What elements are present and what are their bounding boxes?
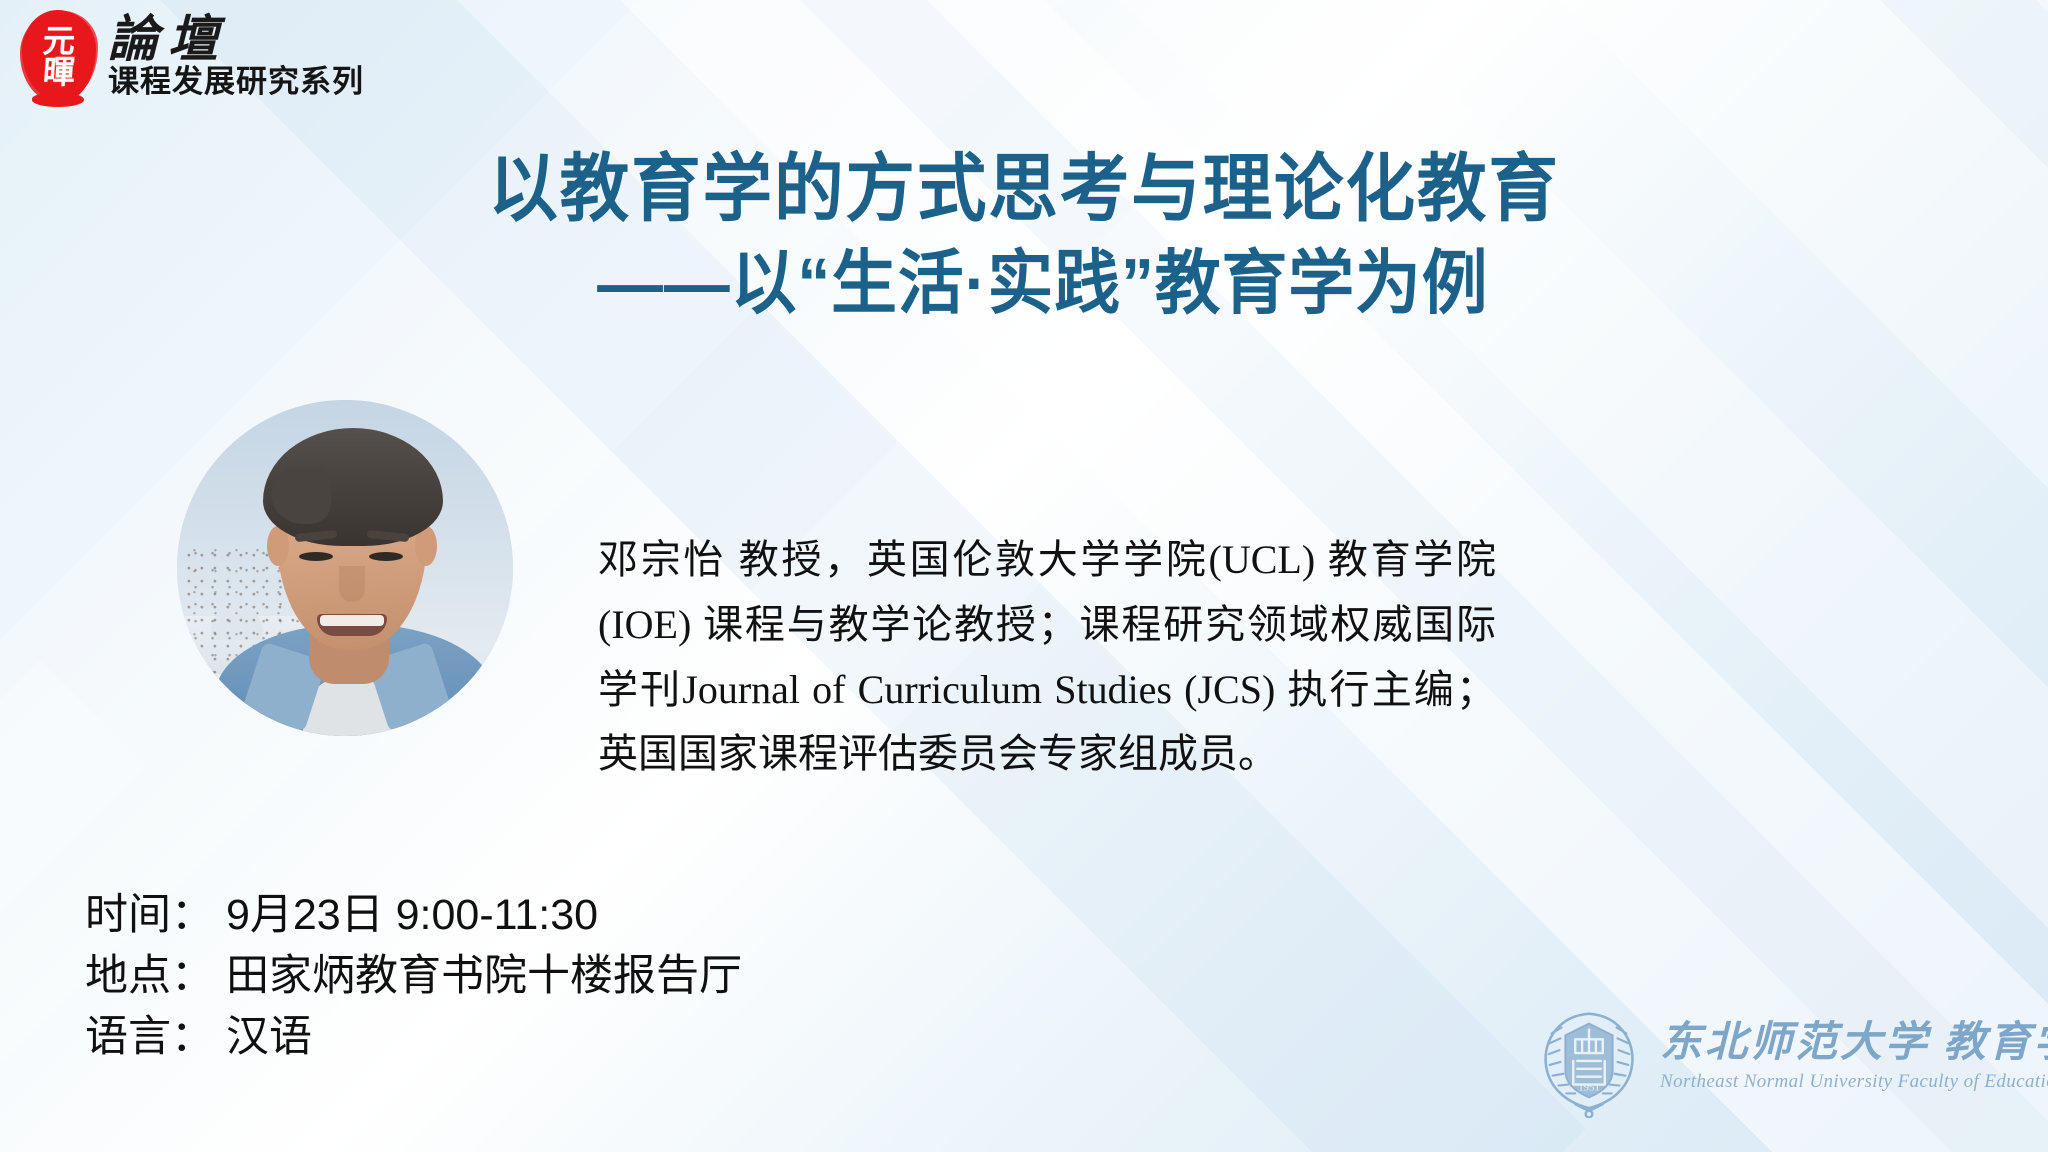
seal-char-bottom: 暉	[42, 57, 76, 88]
speaker-portrait	[177, 400, 513, 736]
speaker-bio: 邓宗怡 教授，英国伦敦大学学院(UCL) 教育学院 (IOE) 课程与教学论教授…	[598, 528, 1496, 787]
seal-stamp-icon: 元 暉	[16, 6, 102, 106]
lecture-title: 以教育学的方式思考与理论化教育	[61, 148, 1986, 231]
forum-series-label: 课程发展研究系列	[108, 66, 364, 99]
detail-value-language: 汉语	[226, 1013, 312, 1061]
detail-row-time: 时间： 9月23日 9:00-11:30	[85, 885, 742, 946]
university-name-cn: 东北师范大学 教育学部	[1660, 1022, 2048, 1064]
detail-label-location: 地点：	[85, 952, 214, 1000]
detail-label-time: 时间：	[85, 891, 214, 939]
forum-brand: 元 暉 論壇 课程发展研究系列	[16, 6, 364, 106]
university-logo: 1951 东北师范大学 教育学部 Northeast Normal Univer…	[1530, 1000, 2048, 1118]
forum-title: 論壇	[108, 14, 364, 64]
lecture-poster: 元 暉 論壇 课程发展研究系列 以教育学的方式思考与理论化教育 ——以“生活·实…	[0, 0, 2048, 1152]
detail-label-language: 语言：	[85, 1013, 214, 1061]
university-name-en: Northeast Normal University Faculty of E…	[1660, 1071, 2048, 1093]
detail-row-location: 地点： 田家炳教育书院十楼报告厅	[85, 946, 742, 1007]
university-crest-icon: 1951	[1530, 1000, 1648, 1118]
crest-year: 1951	[1578, 1081, 1600, 1093]
seal-char-top: 元	[42, 26, 76, 57]
title-block: 以教育学的方式思考与理论化教育 ——以“生活·实践”教育学为例	[0, 148, 2048, 325]
detail-value-location: 田家炳教育书院十楼报告厅	[226, 952, 742, 1000]
lecture-subtitle: ——以“生活·实践”教育学为例	[61, 241, 1986, 325]
detail-row-language: 语言： 汉语	[85, 1007, 742, 1068]
detail-value-time: 9月23日 9:00-11:30	[226, 891, 598, 939]
event-details: 时间： 9月23日 9:00-11:30 地点： 田家炳教育书院十楼报告厅 语言…	[85, 885, 742, 1068]
